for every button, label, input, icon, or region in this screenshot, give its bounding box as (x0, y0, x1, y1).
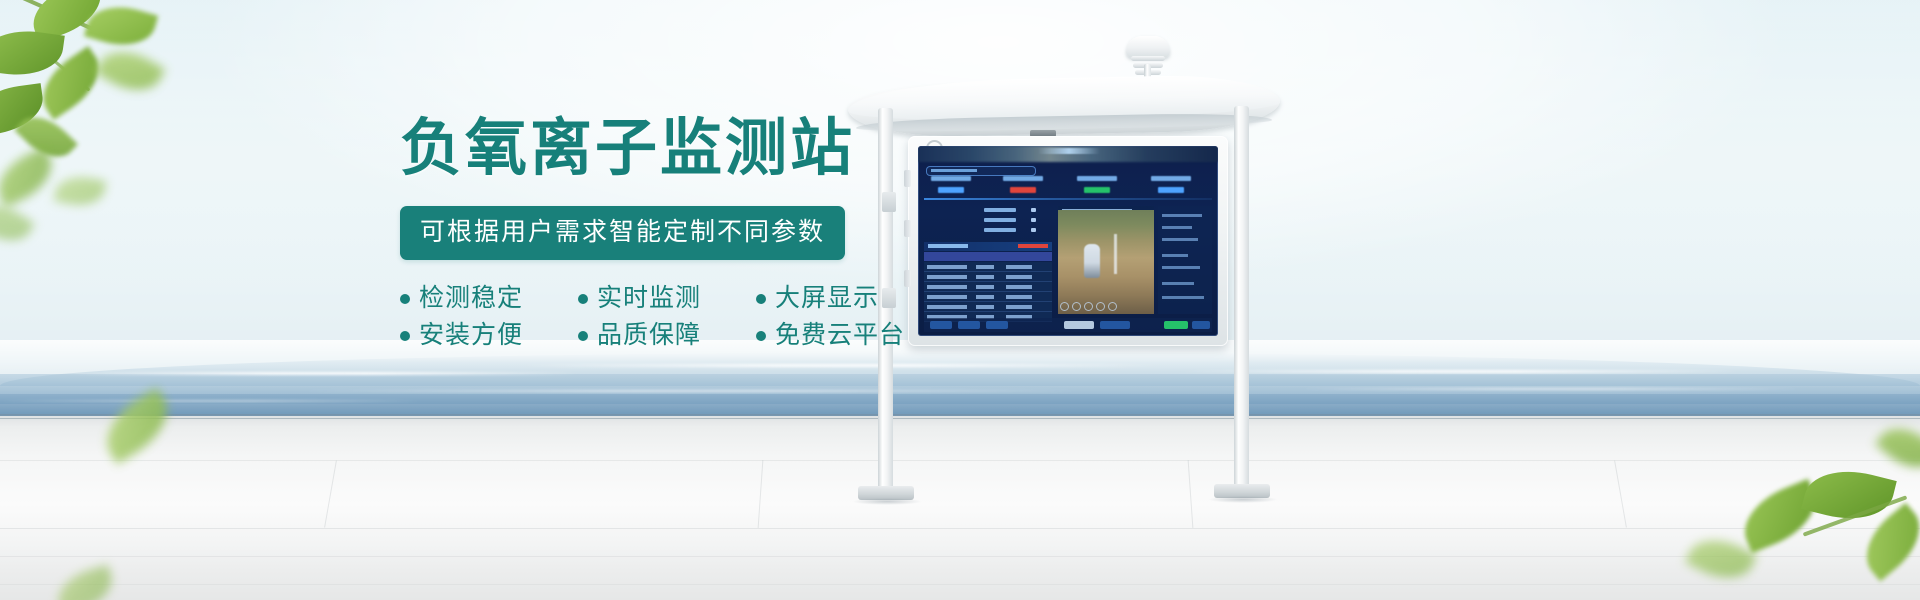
feature-label: 大屏显示 (775, 286, 879, 311)
post-bracket (882, 192, 896, 212)
bullet-dot-icon (400, 294, 410, 304)
stat-value (1158, 187, 1184, 193)
hero-banner: 负氧离子监测站 可根据用户需求智能定制不同参数 检测稳定 实时监测 大屏显示 (0, 0, 1920, 600)
footer-chip[interactable] (1100, 321, 1130, 329)
feature-item: 检测稳定 (400, 286, 548, 311)
base-shadow (852, 498, 922, 505)
stat-value (938, 187, 964, 193)
table-row[interactable] (924, 282, 1052, 292)
cell-metric (976, 285, 994, 289)
feature-label: 实时监测 (597, 286, 701, 311)
pavement-seam (0, 584, 1920, 585)
pavement-seam (0, 556, 1920, 557)
cell-metric (976, 305, 994, 309)
footer-chip[interactable] (1064, 321, 1094, 329)
table-row[interactable] (924, 272, 1052, 282)
cabinet-hinge (904, 270, 911, 287)
leaf-decor (14, 105, 78, 168)
stat-value (1010, 187, 1036, 193)
feature-label: 免费云平台 (775, 323, 905, 348)
stat-value (1084, 187, 1110, 193)
pavement-seam (0, 528, 1920, 529)
subtitle-pill: 可根据用户需求智能定制不同参数 (400, 206, 845, 260)
weather-sensor-head (1126, 36, 1170, 58)
water-streak (1300, 388, 1800, 390)
page-title: 负氧离子监测站 (400, 118, 820, 180)
snapshot-icon[interactable] (1096, 302, 1105, 311)
branch-stem (0, 0, 106, 36)
cabinet-hinge (904, 220, 911, 237)
zoom-in-icon[interactable] (1060, 302, 1069, 311)
footer-chip[interactable] (958, 321, 980, 329)
fullscreen-icon[interactable] (1108, 302, 1117, 311)
pavement-seam-vertical (324, 460, 337, 527)
side-metric-line (1162, 296, 1204, 299)
bullet-dot-icon (578, 294, 588, 304)
feature-row: 安装方便 品质保障 免费云平台 (400, 323, 820, 348)
leaf-decor (95, 40, 166, 103)
alarm-table-column-bar (924, 252, 1052, 261)
camera-feed-controls[interactable] (1060, 302, 1152, 310)
cell-value (1006, 285, 1032, 289)
table-row[interactable] (924, 302, 1052, 312)
summary-value (1031, 208, 1036, 212)
summary-value (1031, 218, 1036, 222)
stat-card-temperature (994, 176, 1052, 193)
stat-card-pressure (1142, 176, 1200, 193)
summary-row (946, 228, 1042, 232)
cabinet-hinge (904, 170, 911, 187)
dashboard-divider (924, 198, 1212, 200)
side-metric-line (1162, 282, 1194, 285)
feature-row: 检测稳定 实时监测 大屏显示 (400, 286, 820, 311)
side-metric-line (1162, 254, 1188, 257)
cell-timestamp (927, 285, 967, 289)
dashboard-search-input[interactable] (926, 166, 1036, 176)
rotate-icon[interactable] (1084, 302, 1093, 311)
summary-row (946, 208, 1042, 212)
leaf-decor (53, 171, 106, 210)
feature-label: 品质保障 (597, 323, 701, 348)
post-bracket (882, 288, 896, 308)
leaf-decor (0, 146, 61, 207)
bullet-dot-icon (578, 331, 588, 341)
cell-timestamp (927, 265, 967, 269)
branch-stem (20, 31, 91, 91)
cell-timestamp (927, 305, 967, 309)
side-metric-line (1162, 266, 1200, 269)
stat-label (1151, 176, 1191, 181)
alarm-table-header (924, 242, 1052, 251)
leaf-decor (0, 83, 47, 137)
side-metric-line (1162, 214, 1202, 217)
table-row[interactable] (924, 292, 1052, 302)
stat-label (1003, 176, 1043, 181)
feature-item: 免费云平台 (756, 323, 905, 348)
feature-item: 实时监测 (578, 286, 726, 311)
water-streak (0, 400, 420, 402)
dashboard-title-text (1038, 148, 1100, 154)
search-placeholder-text (931, 169, 977, 172)
dashboard-footer-bar (924, 318, 1212, 332)
side-metrics-panel (1158, 206, 1212, 314)
feature-label: 安装方便 (419, 323, 523, 348)
leaf-decor (0, 25, 65, 82)
cell-value (1006, 275, 1032, 279)
feature-item: 品质保障 (578, 323, 726, 348)
outdoor-display-kiosk (830, 20, 1300, 510)
bullet-dot-icon (756, 294, 766, 304)
pavement-seam-vertical (758, 460, 764, 528)
monitoring-dashboard-screen[interactable] (918, 146, 1218, 336)
cell-metric (976, 295, 994, 299)
side-metric-line (1162, 226, 1192, 229)
summary-label (984, 218, 1016, 222)
water-streak (60, 372, 580, 375)
leaf-decor (25, 0, 109, 42)
summary-value (1031, 228, 1036, 232)
cell-timestamp (927, 295, 967, 299)
footer-chip[interactable] (1164, 321, 1188, 329)
alarm-status-badge (1018, 244, 1048, 248)
person-in-feed (1084, 244, 1100, 278)
cell-metric (976, 265, 994, 269)
feature-list: 检测稳定 实时监测 大屏显示 安装方便 品质保障 (400, 286, 820, 348)
footer-chip[interactable] (986, 321, 1008, 329)
cell-value (1006, 305, 1032, 309)
feature-item: 大屏显示 (756, 286, 879, 311)
summary-label (984, 208, 1016, 212)
feature-label: 检测稳定 (419, 286, 523, 311)
bullet-dot-icon (756, 331, 766, 341)
side-metric-line (1162, 238, 1198, 241)
base-shadow (1208, 496, 1278, 503)
bullet-dot-icon (400, 331, 410, 341)
leaf-decor (0, 194, 35, 252)
sensor-ring (1131, 56, 1165, 61)
zoom-out-icon[interactable] (1072, 302, 1081, 311)
table-row[interactable] (924, 262, 1052, 272)
cell-value (1006, 265, 1032, 269)
feature-item: 安装方便 (400, 323, 548, 348)
pavement-seam-vertical (1614, 460, 1627, 527)
stat-label (931, 176, 971, 181)
footer-chip[interactable] (930, 321, 952, 329)
stat-card-humidity (922, 176, 980, 193)
support-post-right (1234, 106, 1249, 496)
summary-label (984, 228, 1016, 232)
cell-metric (976, 275, 994, 279)
cell-timestamp (927, 275, 967, 279)
stat-label (1077, 176, 1117, 181)
banner-copy: 负氧离子监测站 可根据用户需求智能定制不同参数 检测稳定 实时监测 大屏显示 (400, 118, 820, 360)
leaf-decor (30, 46, 112, 120)
cell-value (1006, 295, 1032, 299)
sensor-pole-in-feed (1114, 234, 1117, 274)
summary-row (946, 218, 1042, 222)
leaf-decor (84, 0, 158, 54)
camera-feed-image (1058, 210, 1154, 314)
alarm-table-title (928, 244, 968, 248)
footer-chip[interactable] (1192, 321, 1210, 329)
stat-card-negative-ion (1068, 176, 1126, 193)
